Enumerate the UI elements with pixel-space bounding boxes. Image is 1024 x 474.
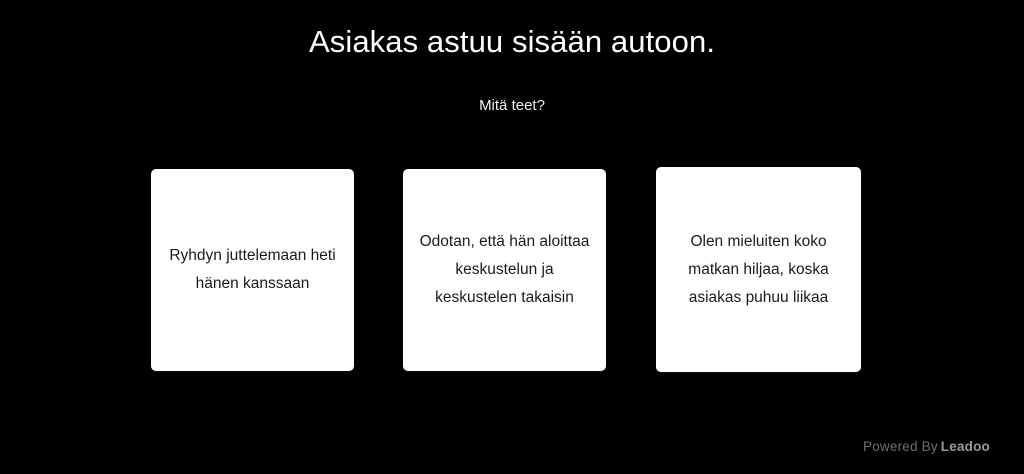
powered-by-label: Powered By [863, 439, 938, 454]
answer-option-2[interactable]: Odotan, että hän aloittaa keskustelun ja… [403, 169, 606, 371]
answer-option-1[interactable]: Ryhdyn juttelemaan heti hänen kanssaan [151, 169, 354, 371]
page-title: Asiakas astuu sisään autoon. [0, 22, 1024, 62]
answer-option-2-label: Odotan, että hän aloittaa keskustelun ja… [415, 228, 594, 312]
leadoo-brand-label: Leadoo [941, 439, 990, 454]
powered-by-credit[interactable]: Powered ByLeadoo [863, 438, 990, 456]
quiz-stage: Asiakas astuu sisään autoon. Mitä teet? … [0, 0, 1024, 474]
question-subtitle: Mitä teet? [0, 96, 1024, 116]
answer-option-3-label: Olen mieluiten koko matkan hiljaa, koska… [668, 228, 849, 312]
answer-options: Ryhdyn juttelemaan heti hänen kanssaan O… [151, 167, 861, 373]
answer-option-3[interactable]: Olen mieluiten koko matkan hiljaa, koska… [656, 167, 861, 372]
answer-option-1-label: Ryhdyn juttelemaan heti hänen kanssaan [163, 242, 342, 298]
